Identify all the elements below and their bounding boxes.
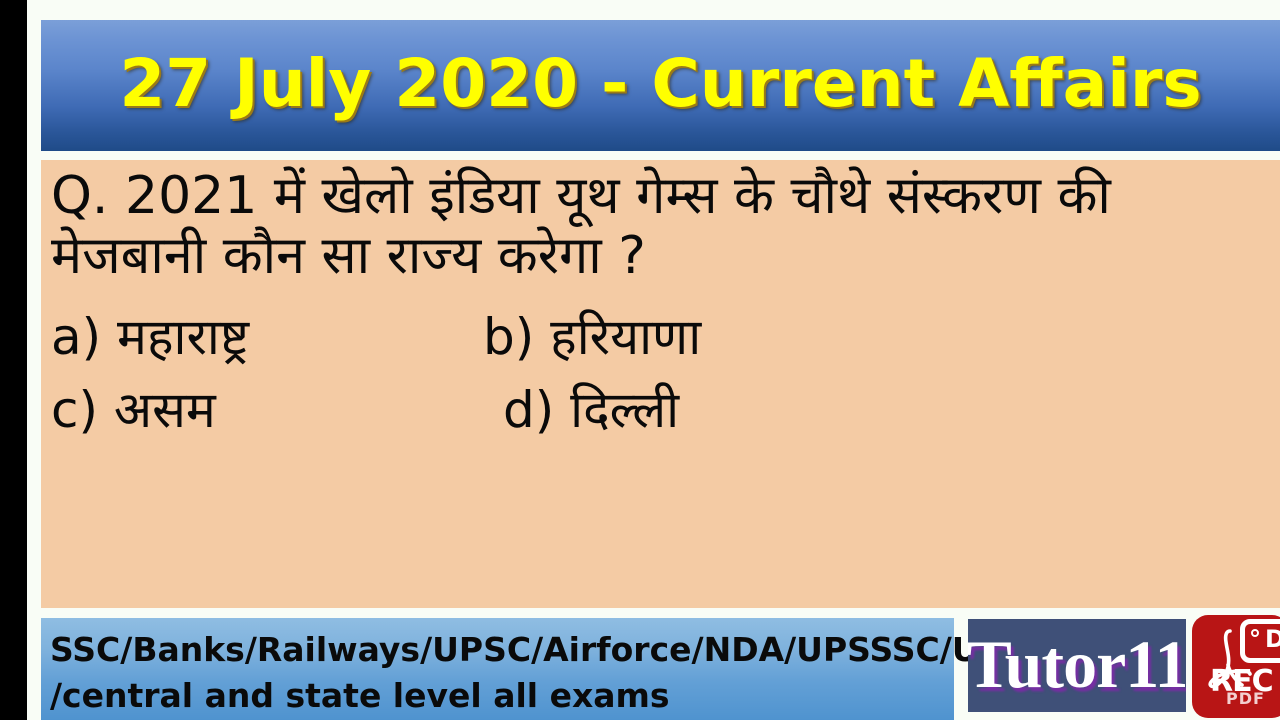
options-row-2: c) असम d) दिल्ली <box>51 374 1280 447</box>
footer-exams-line-2: /central and state level all exams <box>50 673 954 719</box>
screen-recorder-watermark: REC PDF D <box>1192 615 1280 718</box>
option-d[interactable]: d) दिल्ली <box>503 374 679 447</box>
question-text: Q. 2021 में खेलो इंडिया यूथ गेम्स के चौथ… <box>51 166 1280 287</box>
option-a[interactable]: a) महाराष्ट्र <box>51 301 483 374</box>
header-banner: 27 July 2020 - Current Affairs <box>41 20 1280 151</box>
question-panel: Q. 2021 में खेलो इंडिया यूथ गेम्स के चौथ… <box>41 160 1280 608</box>
option-b[interactable]: b) हरियाणा <box>483 301 701 374</box>
options-list: a) महाराष्ट्र b) हरियाणा c) असम d) दिल्ल… <box>51 301 1280 447</box>
tutor11-logo-text: Tutor11 <box>968 630 1186 702</box>
options-row-1: a) महाराष्ट्र b) हरियाणा <box>51 301 1280 374</box>
record-dot-icon <box>1251 629 1259 637</box>
footer-banner: SSC/Banks/Railways/UPSC/Airforce/NDA/UPS… <box>41 618 954 720</box>
rec-badge-letter: D <box>1265 627 1280 651</box>
page-title: 27 July 2020 - Current Affairs <box>119 51 1201 121</box>
option-c[interactable]: c) असम <box>51 374 503 447</box>
pdf-label: PDF <box>1226 691 1265 707</box>
slide-root: 27 July 2020 - Current Affairs Q. 2021 म… <box>0 0 1280 720</box>
tutor11-logo: Tutor11 <box>968 619 1186 712</box>
letterbox-left-bar <box>0 0 27 720</box>
rec-badge-frame: D <box>1240 619 1280 663</box>
footer-exams-line-1: SSC/Banks/Railways/UPSC/Airforce/NDA/UPS… <box>50 627 954 673</box>
